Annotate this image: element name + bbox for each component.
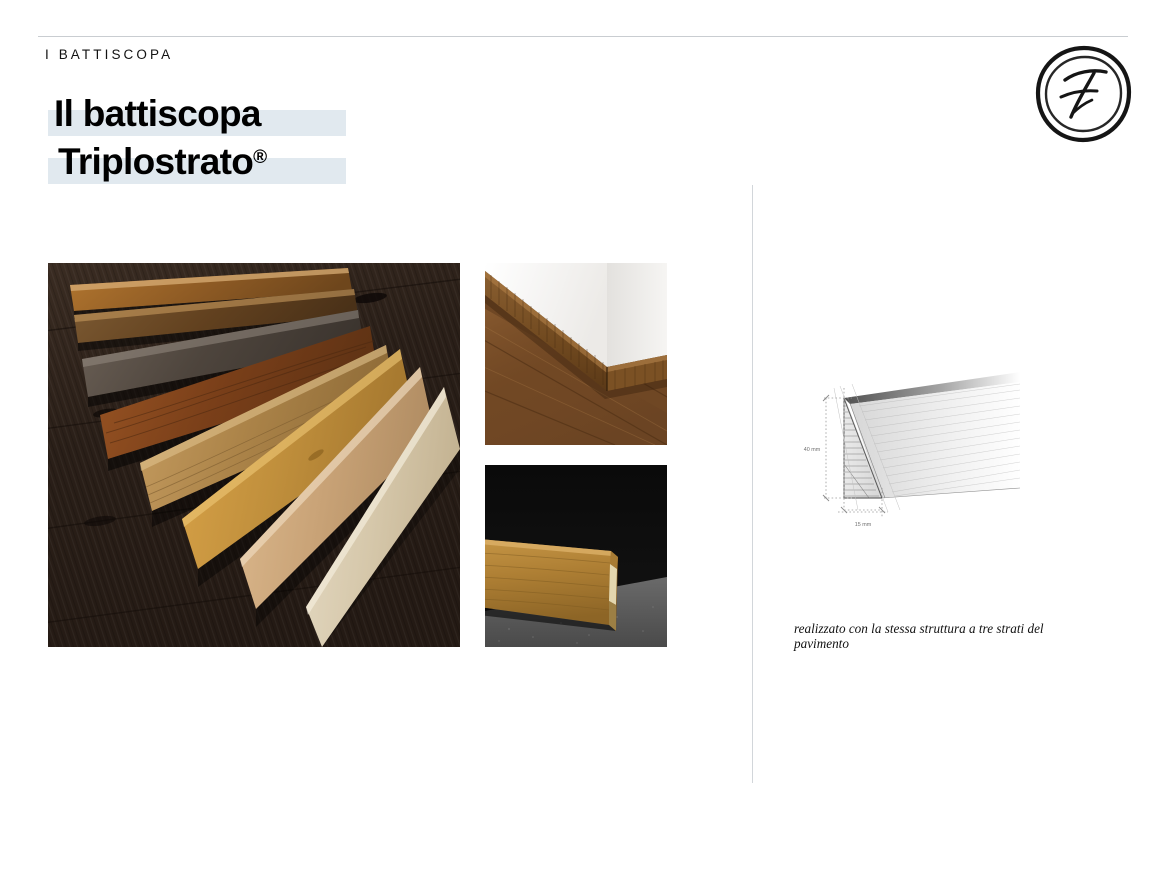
dimension-label-height: 40 mm [804, 447, 821, 453]
page-title-text-2: Triplostrato® [48, 136, 267, 184]
content-divider [752, 185, 753, 783]
logo-circular-f-monogram-icon [1032, 42, 1136, 146]
section-eyebrow: I BATTISCOPA [45, 47, 173, 62]
page-title-line-2: Triplostrato® [48, 136, 468, 180]
registered-trademark-symbol: ® [253, 147, 267, 168]
page-title: Il battiscopa Triplostrato® [48, 92, 468, 180]
dimension-label-thickness: 15 mm [855, 522, 872, 528]
page-title-line-1: Il battiscopa [48, 92, 468, 136]
photo-skirting-installed-corner [485, 263, 667, 445]
header-rule [38, 36, 1128, 37]
photo-skirting-profile-detail [485, 465, 667, 647]
page-title-word-triplostrato: Triplostrato [58, 141, 253, 182]
page-title-text-1: Il battiscopa [48, 92, 261, 136]
technical-drawing-skirting-section: 40 mm 15 mm [782, 360, 1022, 540]
photo-skirting-samples [48, 263, 460, 647]
drawing-caption: realizzato con la stessa struttura a tre… [794, 622, 1064, 651]
